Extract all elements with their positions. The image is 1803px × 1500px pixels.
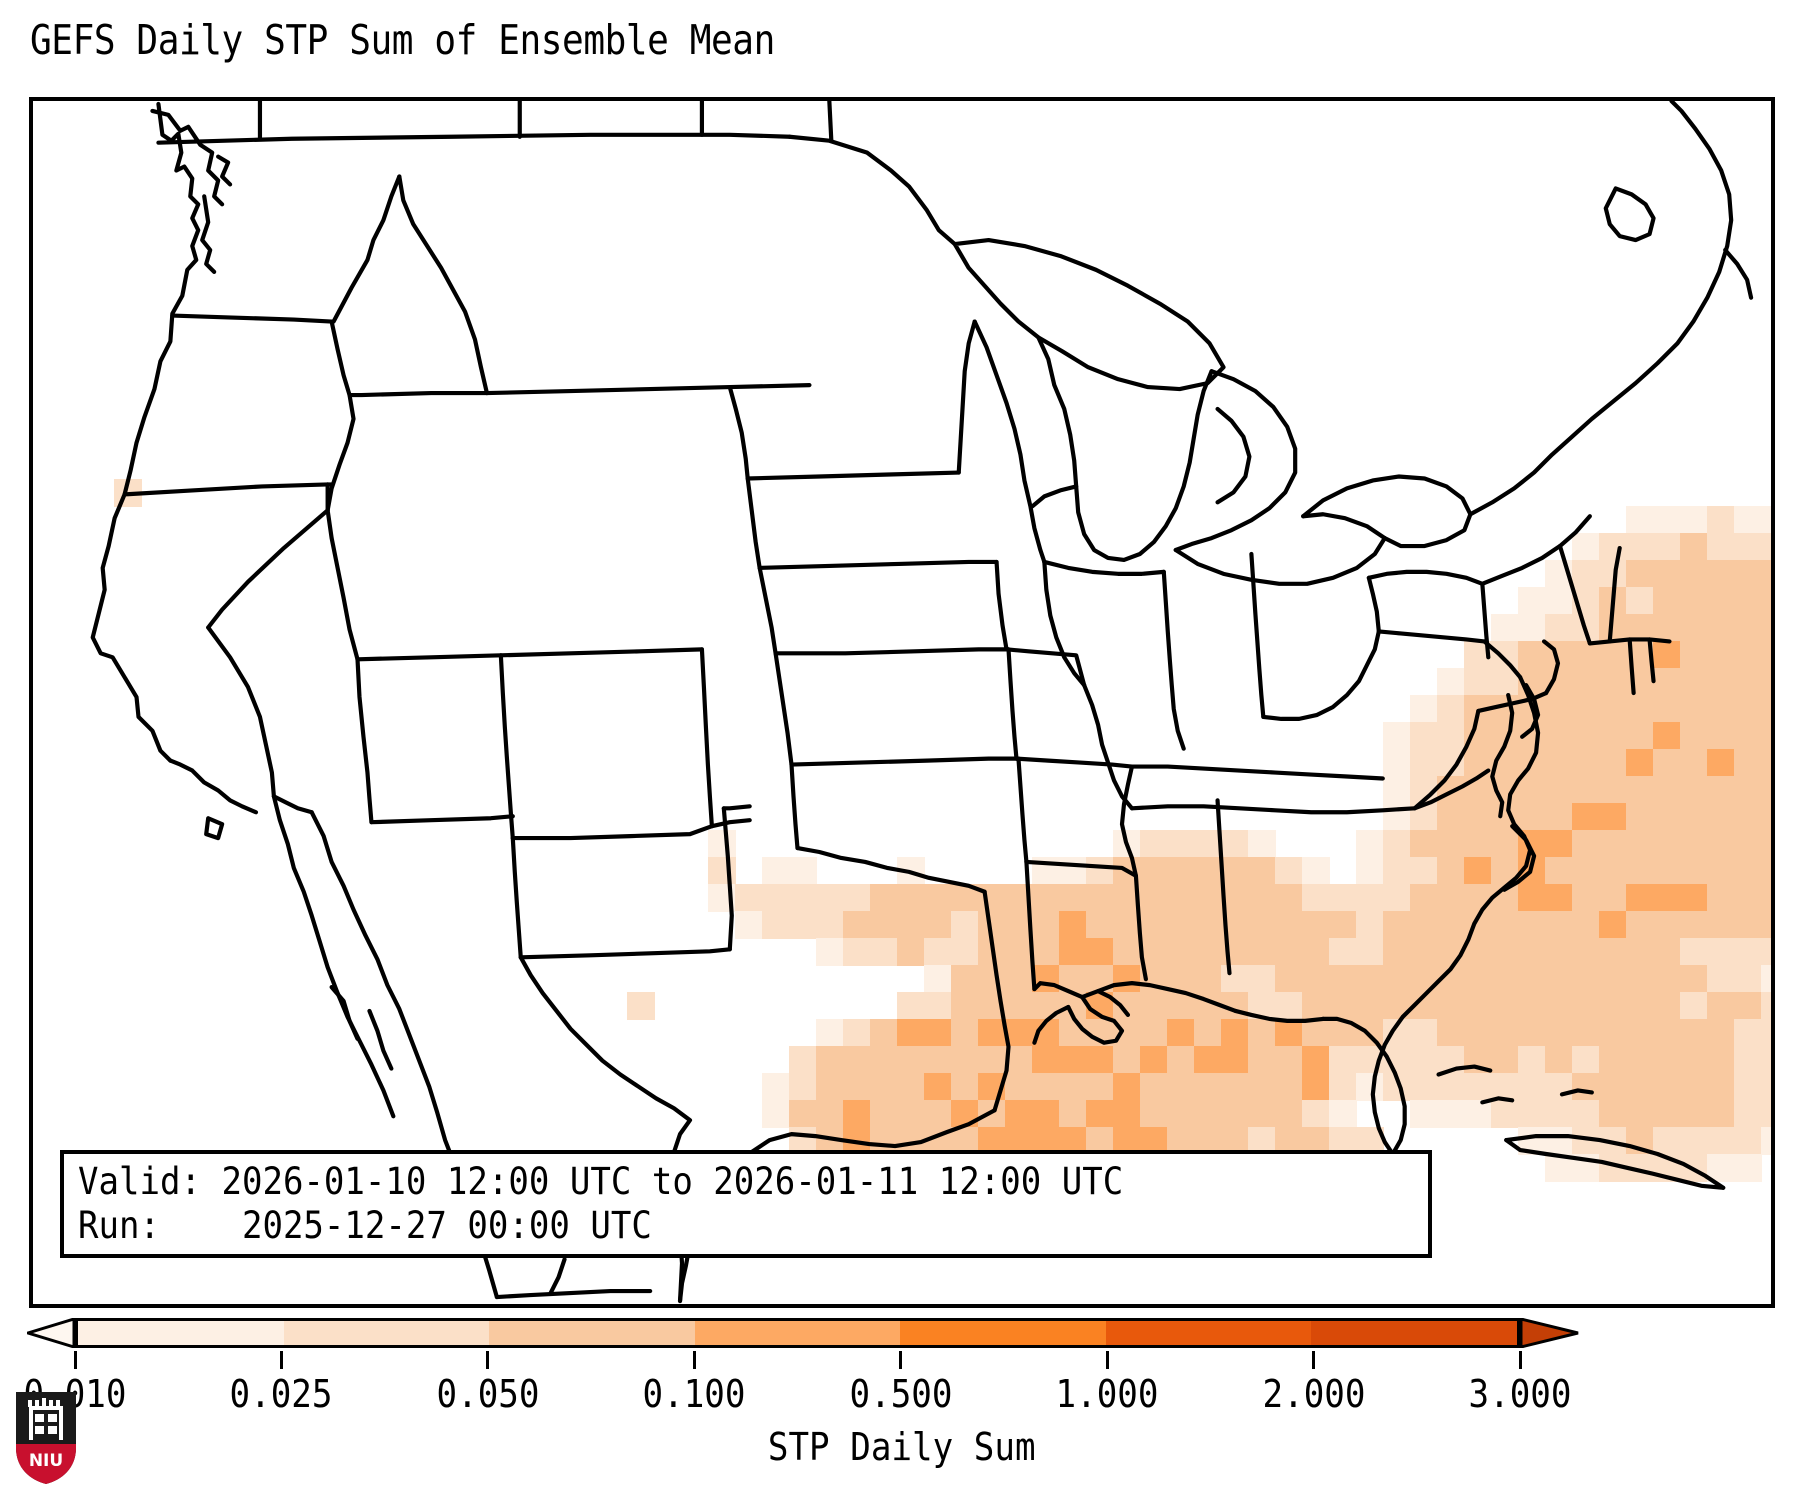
colorbar-band-5 — [1106, 1321, 1312, 1345]
niu-logo-text: NIU — [29, 1451, 63, 1471]
colorbar-tick-6 — [1312, 1351, 1315, 1369]
colorbar-tick-label-7: 3.000 — [1469, 1372, 1572, 1416]
colorbar-tick-label-4: 0.500 — [849, 1372, 952, 1416]
colorbar-tick-2 — [486, 1351, 489, 1369]
valid-time-line: Valid: 2026-01-10 12:00 UTC to 2026-01-1… — [78, 1160, 1123, 1203]
geography-layer — [33, 101, 1771, 1304]
colorbar — [75, 1318, 1520, 1348]
info-box: Valid: 2026-01-10 12:00 UTC to 2026-01-1… — [60, 1150, 1432, 1258]
page-title: GEFS Daily STP Sum of Ensemble Mean — [30, 16, 775, 64]
colorbar-ticks — [0, 1351, 1803, 1369]
colorbar-tick-3 — [693, 1351, 696, 1369]
colorbar-band-3 — [695, 1321, 901, 1345]
colorbar-band-0 — [78, 1321, 284, 1345]
colorbar-tick-1 — [280, 1351, 283, 1369]
map-panel — [29, 97, 1775, 1308]
colorbar-tick-labels: 0.0100.0250.0500.1000.5001.0002.0003.000 — [0, 1372, 1803, 1418]
colorbar-tick-label-1: 0.025 — [230, 1372, 333, 1416]
run-time-line: Run: 2025-12-27 00:00 UTC — [78, 1204, 652, 1247]
niu-logo: NIU — [14, 1390, 78, 1486]
colorbar-tick-label-5: 1.000 — [1056, 1372, 1159, 1416]
colorbar-band-6 — [1311, 1321, 1517, 1345]
colorbar-tick-5 — [1106, 1351, 1109, 1369]
colorbar-axis-label-text: STP Daily Sum — [768, 1425, 1036, 1469]
colorbar-band-2 — [489, 1321, 695, 1345]
colorbar-tick-label-6: 2.000 — [1262, 1372, 1365, 1416]
colorbar-axis-label: STP Daily Sum — [0, 1425, 1803, 1469]
map-canvas — [33, 101, 1771, 1304]
colorbar-band-4 — [900, 1321, 1106, 1345]
colorbar-section: 0.0100.0250.0500.1000.5001.0002.0003.000… — [0, 1310, 1803, 1500]
colorbar-tick-4 — [899, 1351, 902, 1369]
colorbar-tick-label-3: 0.100 — [643, 1372, 746, 1416]
colorbar-tick-label-2: 0.050 — [436, 1372, 539, 1416]
colorbar-band-1 — [284, 1321, 490, 1345]
colorbar-under-arrow — [27, 1318, 75, 1348]
colorbar-tick-0 — [74, 1351, 77, 1369]
colorbar-tick-7 — [1519, 1351, 1522, 1369]
colorbar-over-arrow — [1520, 1318, 1580, 1348]
